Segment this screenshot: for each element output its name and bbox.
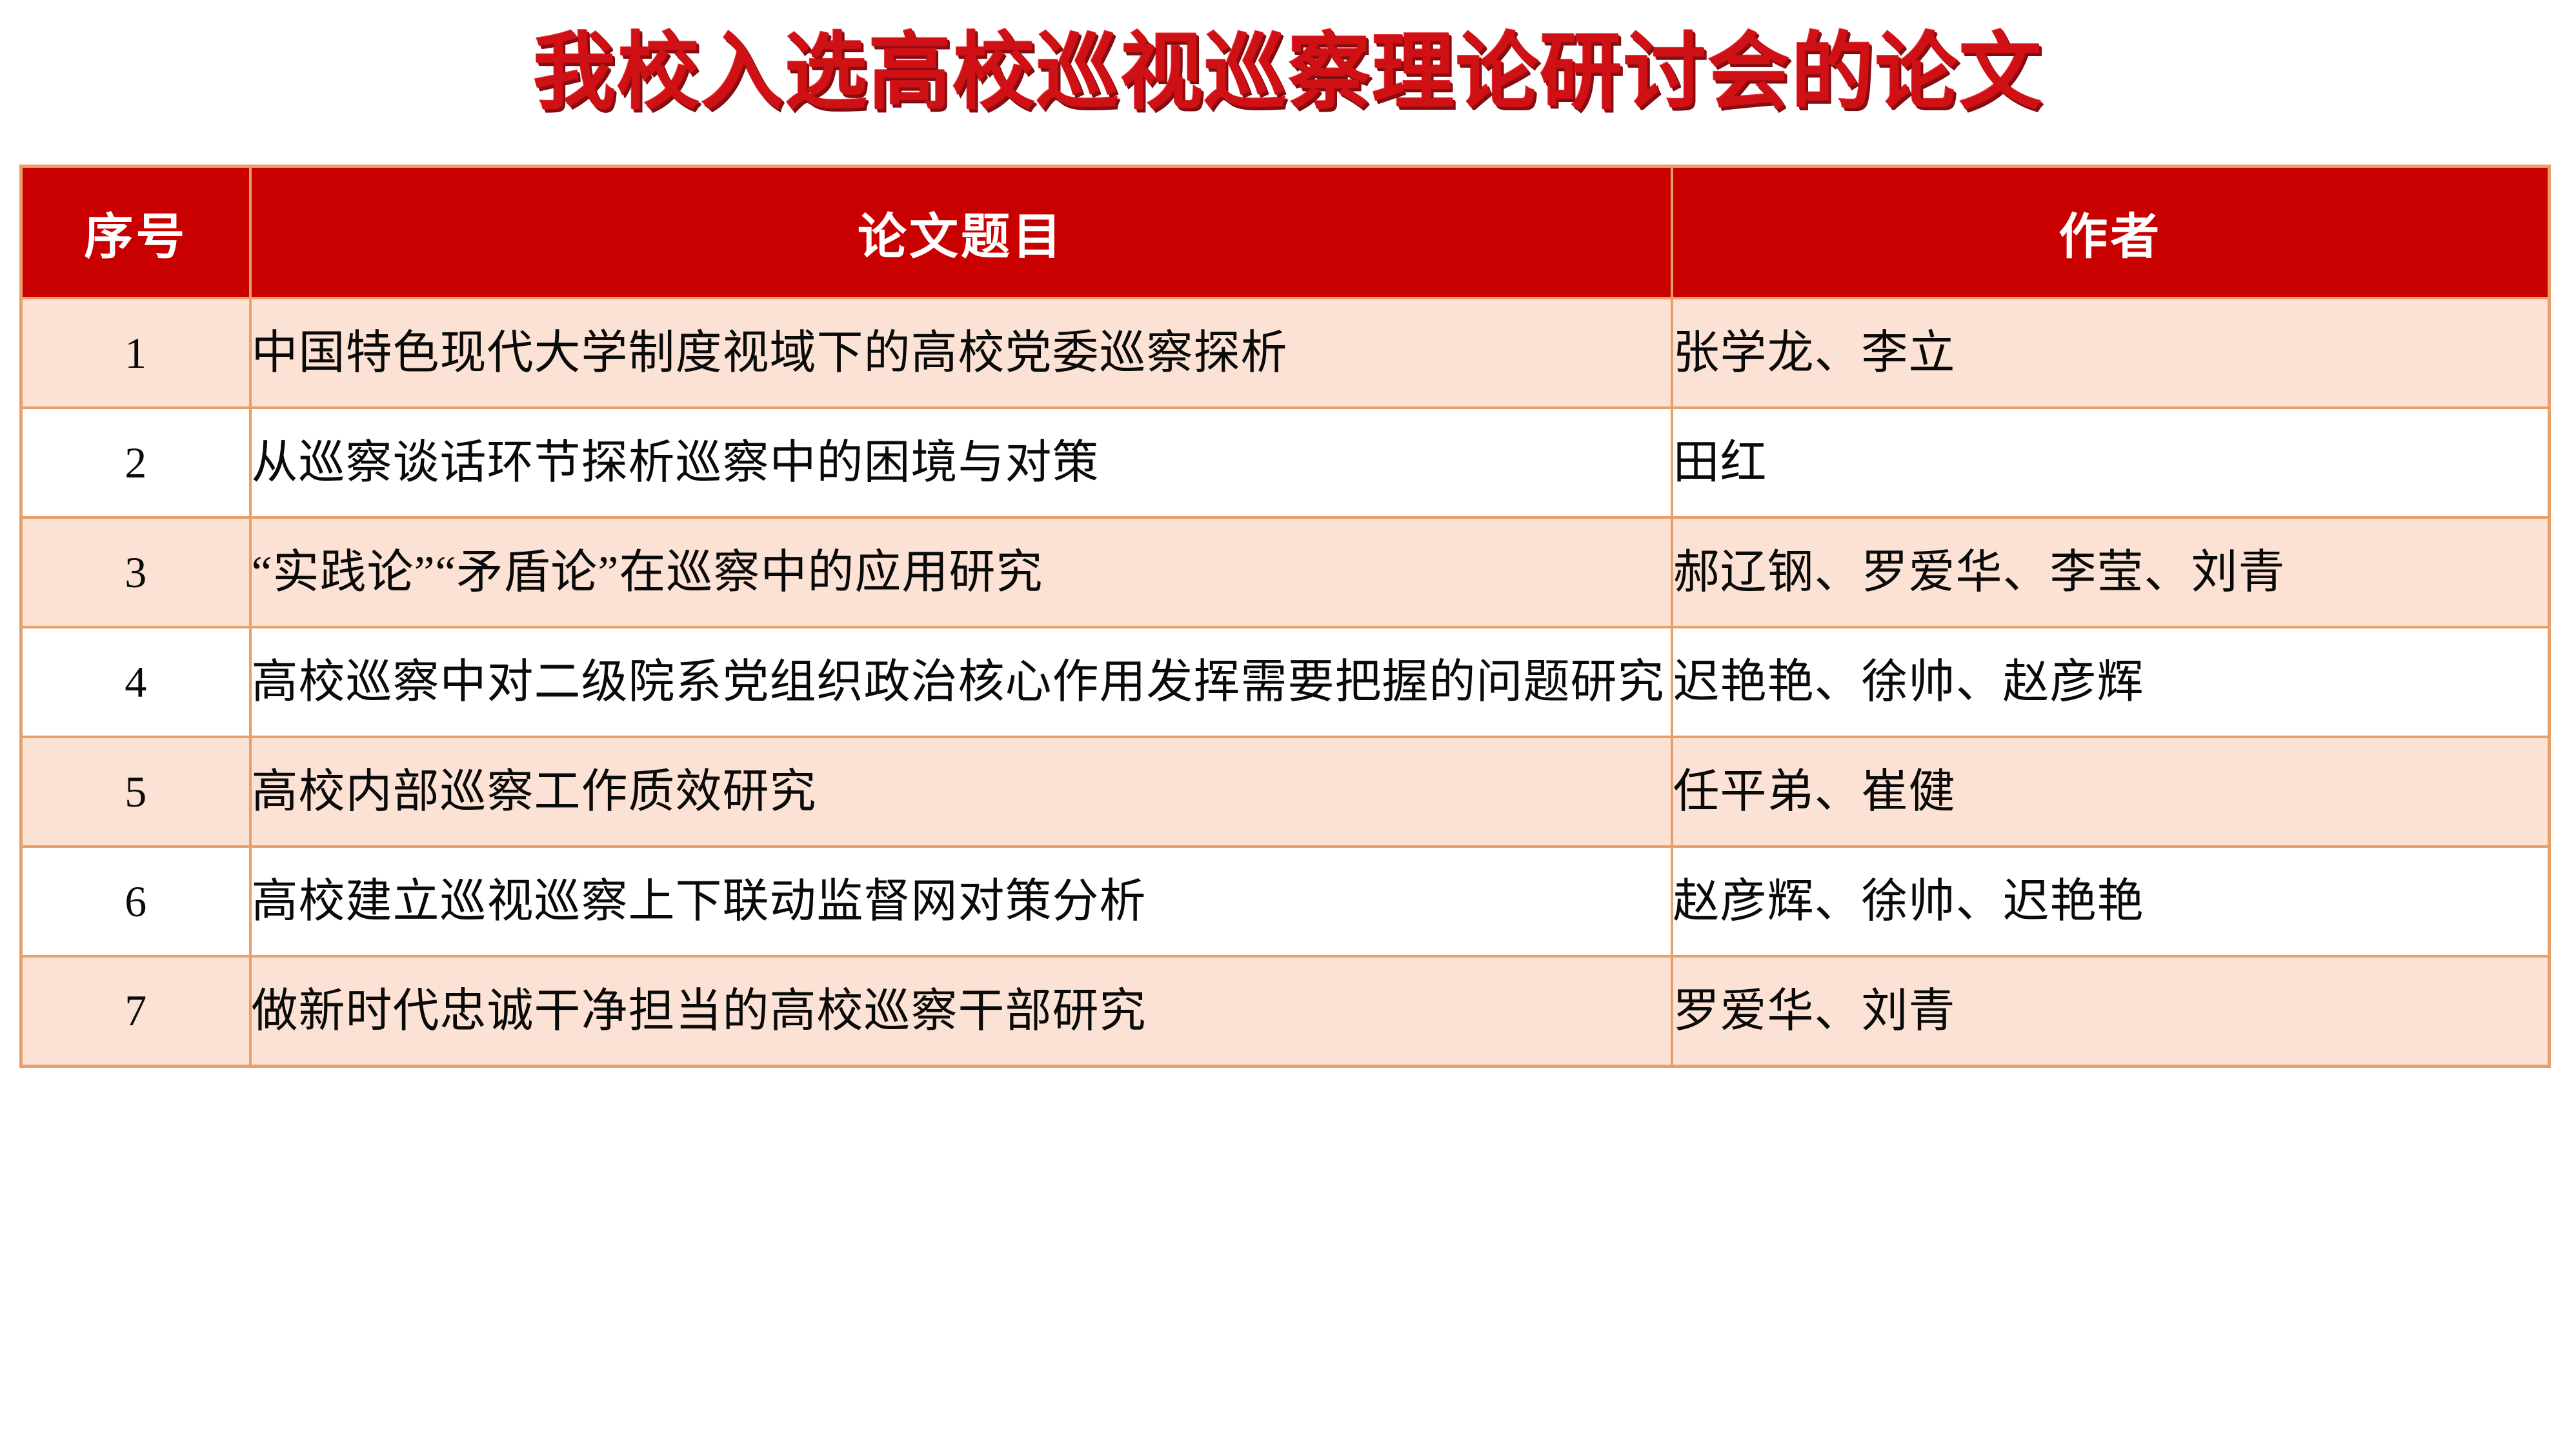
column-header-title: 论文题目 bbox=[250, 166, 1672, 299]
cell-paper-title: 中国特色现代大学制度视域下的高校党委巡察探析 bbox=[250, 298, 1672, 408]
cell-index: 6 bbox=[21, 847, 250, 956]
cell-paper-title: 高校巡察中对二级院系党组织政治核心作用发挥需要把握的问题研究 bbox=[250, 627, 1672, 737]
papers-table: 序号 论文题目 作者 1中国特色现代大学制度视域下的高校党委巡察探析张学龙、李立… bbox=[19, 165, 2551, 1068]
cell-authors: 田红 bbox=[1672, 408, 2550, 517]
column-header-index: 序号 bbox=[21, 166, 250, 299]
table-row: 6高校建立巡视巡察上下联动监督网对策分析赵彦辉、徐帅、迟艳艳 bbox=[21, 847, 2550, 956]
table-body: 1中国特色现代大学制度视域下的高校党委巡察探析张学龙、李立2从巡察谈话环节探析巡… bbox=[21, 298, 2550, 1066]
cell-authors: 赵彦辉、徐帅、迟艳艳 bbox=[1672, 847, 2550, 956]
cell-paper-title: “实践论”“矛盾论”在巡察中的应用研究 bbox=[250, 517, 1672, 627]
page-title: 我校入选高校巡视巡察理论研讨会的论文 bbox=[533, 31, 2043, 115]
table-row: 1中国特色现代大学制度视域下的高校党委巡察探析张学龙、李立 bbox=[21, 298, 2550, 408]
cell-paper-title: 高校内部巡察工作质效研究 bbox=[250, 737, 1672, 847]
table-row: 2从巡察谈话环节探析巡察中的困境与对策田红 bbox=[21, 408, 2550, 517]
cell-authors: 郝辽钢、罗爱华、李莹、刘青 bbox=[1672, 517, 2550, 627]
table-header: 序号 论文题目 作者 bbox=[21, 166, 2550, 299]
cell-paper-title: 高校建立巡视巡察上下联动监督网对策分析 bbox=[250, 847, 1672, 956]
cell-authors: 迟艳艳、徐帅、赵彦辉 bbox=[1672, 627, 2550, 737]
cell-authors: 任平弟、崔健 bbox=[1672, 737, 2550, 847]
cell-paper-title: 做新时代忠诚干净担当的高校巡察干部研究 bbox=[250, 956, 1672, 1066]
table-header-row: 序号 论文题目 作者 bbox=[21, 166, 2550, 299]
cell-index: 4 bbox=[21, 627, 250, 737]
cell-authors: 罗爱华、刘青 bbox=[1672, 956, 2550, 1066]
cell-index: 1 bbox=[21, 298, 250, 408]
cell-index: 7 bbox=[21, 956, 250, 1066]
title-block: 我校入选高校巡视巡察理论研讨会的论文 bbox=[0, 5, 2576, 141]
cell-index: 2 bbox=[21, 408, 250, 517]
column-header-author: 作者 bbox=[1672, 166, 2550, 299]
cell-index: 3 bbox=[21, 517, 250, 627]
table-row: 4高校巡察中对二级院系党组织政治核心作用发挥需要把握的问题研究迟艳艳、徐帅、赵彦… bbox=[21, 627, 2550, 737]
table-row: 7做新时代忠诚干净担当的高校巡察干部研究罗爱华、刘青 bbox=[21, 956, 2550, 1066]
slide-page: 我校入选高校巡视巡察理论研讨会的论文 序号 论文题目 作者 1中国特色现代大学制… bbox=[0, 0, 2576, 1435]
table-row: 5高校内部巡察工作质效研究任平弟、崔健 bbox=[21, 737, 2550, 847]
table-row: 3“实践论”“矛盾论”在巡察中的应用研究郝辽钢、罗爱华、李莹、刘青 bbox=[21, 517, 2550, 627]
cell-index: 5 bbox=[21, 737, 250, 847]
cell-authors: 张学龙、李立 bbox=[1672, 298, 2550, 408]
cell-paper-title: 从巡察谈话环节探析巡察中的困境与对策 bbox=[250, 408, 1672, 517]
